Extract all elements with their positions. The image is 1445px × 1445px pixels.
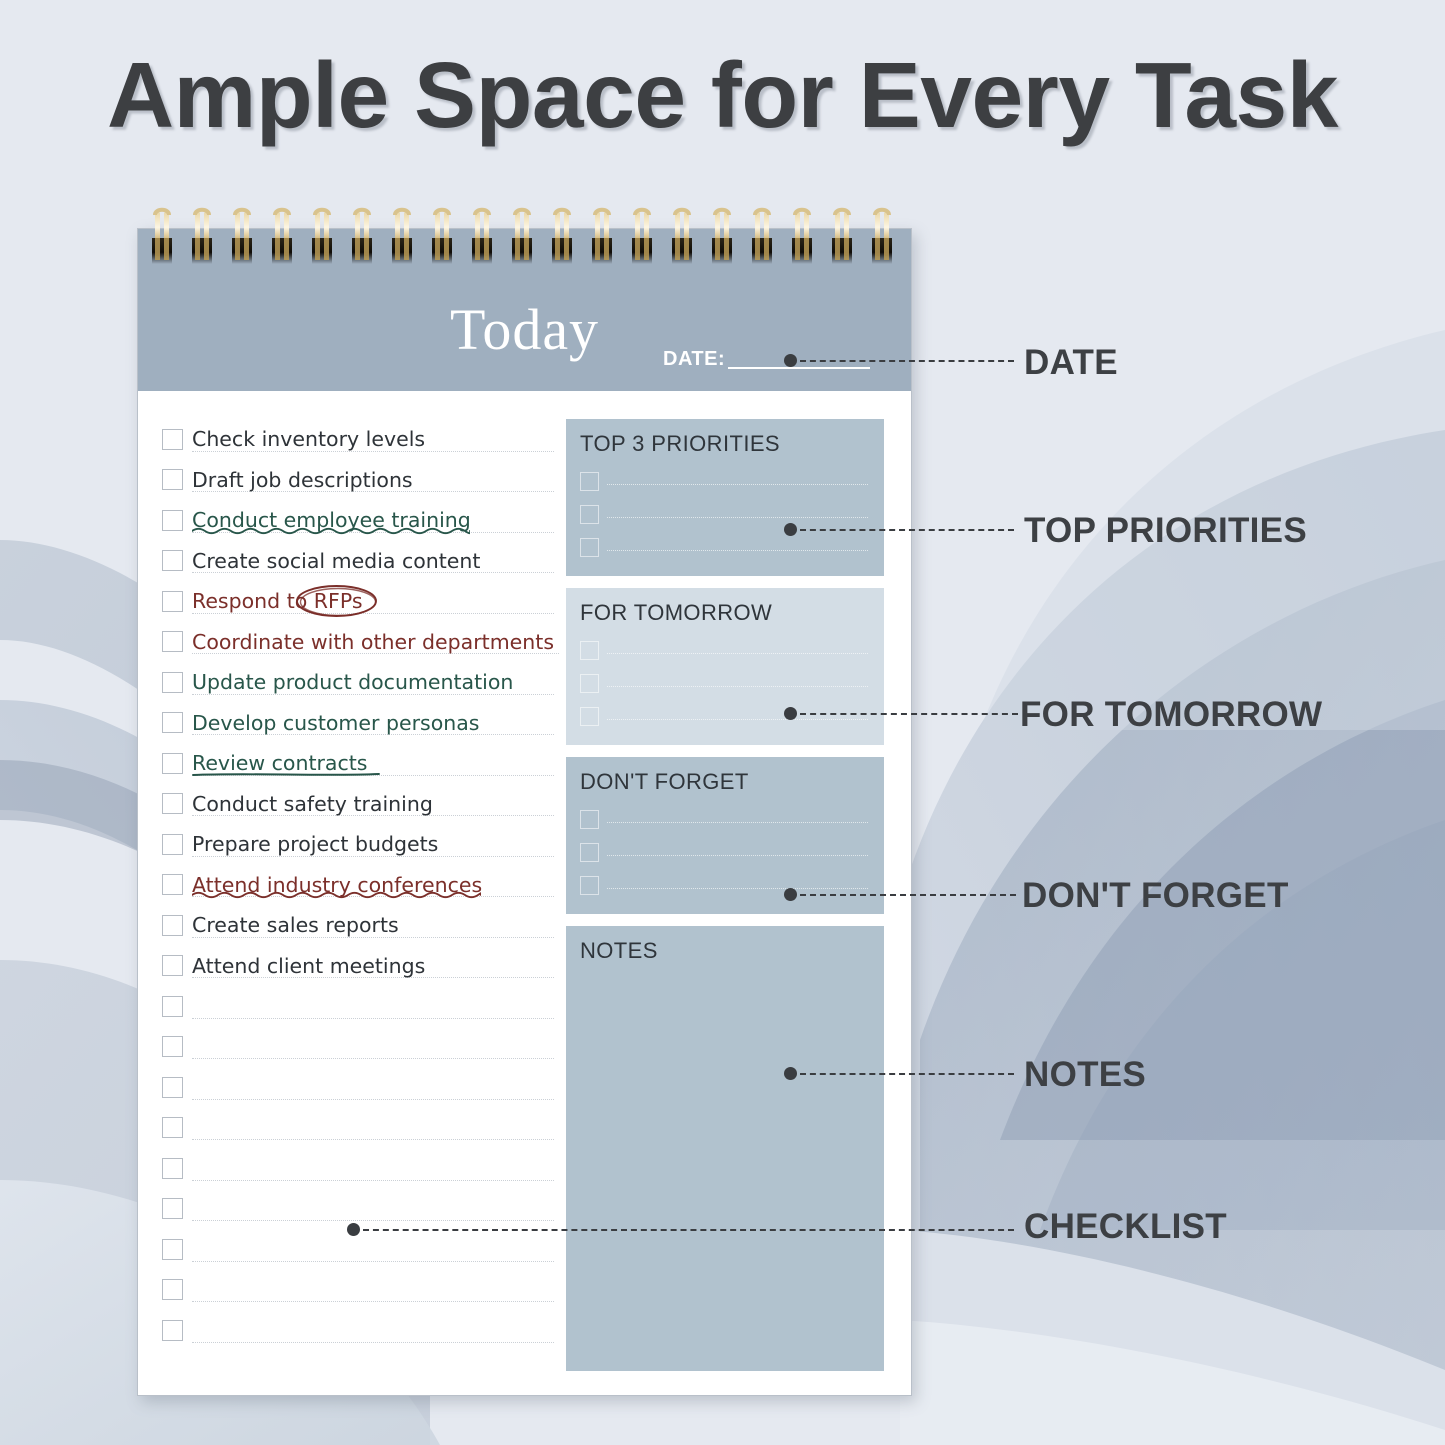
checkbox-icon[interactable] <box>162 1036 183 1057</box>
checklist-item-label: Conduct employee training <box>192 510 476 531</box>
checkbox-icon[interactable] <box>162 510 183 531</box>
checklist-item-label: Respond to RFPs <box>192 591 368 612</box>
checklist-row[interactable] <box>162 1067 554 1108</box>
checklist-row[interactable]: Update product documentation <box>162 662 554 703</box>
checkbox-icon[interactable] <box>162 1320 183 1341</box>
checkbox-icon[interactable] <box>162 955 183 976</box>
dotted-rule <box>192 1099 554 1100</box>
checklist-line: Create sales reports <box>192 905 554 946</box>
section-box-title: NOTES <box>580 940 868 962</box>
checklist-item-label: Update product documentation <box>192 672 518 693</box>
checklist-line <box>192 1229 554 1270</box>
checklist-line <box>192 1027 554 1068</box>
checklist-row[interactable]: Create sales reports <box>162 905 554 946</box>
checklist-line <box>192 1067 554 1108</box>
checklist-column: Check inventory levelsDraft job descript… <box>162 413 554 1371</box>
checklist-line: Attend industry conferences <box>192 865 554 906</box>
checklist-line: Conduct employee training <box>192 500 554 541</box>
infographic-canvas: Ample Space for Every Task <box>0 0 1445 1445</box>
checklist-line: Draft job descriptions <box>192 460 554 501</box>
section-boxes-column: TOP 3 PRIORITIESFOR TOMORROWDON'T FORGET… <box>566 413 884 1371</box>
date-field[interactable]: DATE: <box>663 349 870 371</box>
section-box-row[interactable] <box>580 836 868 869</box>
checkbox-icon[interactable] <box>580 707 599 726</box>
checkbox-icon[interactable] <box>580 876 599 895</box>
section-box-row[interactable] <box>580 531 868 564</box>
section-box-row[interactable] <box>580 634 868 667</box>
dotted-rule <box>607 855 868 856</box>
checklist-row[interactable]: Conduct safety training <box>162 784 554 825</box>
dotted-rule <box>607 888 868 889</box>
checklist-line: Review contracts <box>192 743 554 784</box>
checklist-item-label: Coordinate with other departments <box>192 632 559 653</box>
section-box-row[interactable] <box>580 498 868 531</box>
checklist-row[interactable]: Develop customer personas <box>162 703 554 744</box>
checkbox-icon[interactable] <box>162 996 183 1017</box>
checkbox-icon[interactable] <box>162 672 183 693</box>
checklist-row[interactable] <box>162 1108 554 1149</box>
checkbox-icon[interactable] <box>162 834 183 855</box>
dotted-rule <box>607 686 868 687</box>
checkbox-icon[interactable] <box>162 1198 183 1219</box>
checkbox-icon[interactable] <box>580 843 599 862</box>
checklist-line <box>192 1108 554 1149</box>
section-box[interactable]: TOP 3 PRIORITIES <box>566 419 884 576</box>
checklist-row[interactable] <box>162 1027 554 1068</box>
checklist-row[interactable]: Create social media content <box>162 541 554 582</box>
checkbox-icon[interactable] <box>162 793 183 814</box>
checklist-row[interactable]: Coordinate with other departments <box>162 622 554 663</box>
checklist-row[interactable]: Respond to RFPs <box>162 581 554 622</box>
checkbox-icon[interactable] <box>580 505 599 524</box>
checklist-row[interactable]: Prepare project budgets <box>162 824 554 865</box>
checklist-row[interactable] <box>162 1310 554 1351</box>
notepad-body: Check inventory levelsDraft job descript… <box>138 391 911 1395</box>
dotted-rule <box>192 1180 554 1181</box>
dotted-rule <box>192 1220 554 1221</box>
checklist-line: Create social media content <box>192 541 554 582</box>
dotted-rule <box>607 653 868 654</box>
dotted-rule <box>192 1058 554 1059</box>
checklist-line <box>192 1148 554 1189</box>
checkbox-icon[interactable] <box>580 674 599 693</box>
checklist-item-label: Draft job descriptions <box>192 470 418 491</box>
checklist-line: Coordinate with other departments <box>192 622 559 663</box>
dotted-rule <box>607 517 868 518</box>
section-box-title: DON'T FORGET <box>580 771 868 793</box>
checklist-line <box>192 1310 554 1351</box>
checklist-line: Attend client meetings <box>192 946 554 987</box>
section-box[interactable]: FOR TOMORROW <box>566 588 884 745</box>
checkbox-icon[interactable] <box>162 874 183 895</box>
checklist-item-label: Prepare project budgets <box>192 834 443 855</box>
checklist-line: Check inventory levels <box>192 419 554 460</box>
section-box[interactable]: NOTES <box>566 926 884 1371</box>
spiral-binding <box>145 206 905 276</box>
checklist-item-label: Review contracts <box>192 753 372 774</box>
checklist-line: Prepare project budgets <box>192 824 554 865</box>
checkbox-icon[interactable] <box>162 631 183 652</box>
checkbox-icon[interactable] <box>162 429 183 450</box>
checklist-item-label: Attend industry conferences <box>192 875 487 896</box>
checkbox-icon[interactable] <box>580 641 599 660</box>
checklist-row[interactable] <box>162 1229 554 1270</box>
checklist-line <box>192 1270 554 1311</box>
date-label: DATE: <box>663 349 725 371</box>
dotted-rule <box>192 1018 554 1019</box>
checkbox-icon[interactable] <box>580 472 599 491</box>
checkbox-icon[interactable] <box>162 753 183 774</box>
notepad: Today DATE: Check inventory levelsDraft … <box>137 228 912 1396</box>
checkbox-icon[interactable] <box>162 1077 183 1098</box>
checklist-line <box>192 1189 554 1230</box>
checklist-line: Develop customer personas <box>192 703 554 744</box>
checkbox-icon[interactable] <box>580 810 599 829</box>
checklist-line <box>192 986 554 1027</box>
section-box[interactable]: DON'T FORGET <box>566 757 884 914</box>
section-box-title: TOP 3 PRIORITIES <box>580 433 868 455</box>
date-input-rule[interactable] <box>728 367 870 369</box>
checkbox-icon[interactable] <box>162 591 183 612</box>
checklist-line: Conduct safety training <box>192 784 554 825</box>
checklist-row[interactable] <box>162 1270 554 1311</box>
checklist-row[interactable]: Attend industry conferences <box>162 865 554 906</box>
checklist-line: Update product documentation <box>192 662 554 703</box>
checklist-item-label: Check inventory levels <box>192 429 430 450</box>
dotted-rule <box>607 550 868 551</box>
checkbox-icon[interactable] <box>162 1239 183 1260</box>
section-box-row[interactable] <box>580 700 868 733</box>
checkbox-icon[interactable] <box>580 538 599 557</box>
dotted-rule <box>192 1139 554 1140</box>
dotted-rule <box>607 822 868 823</box>
checkbox-icon[interactable] <box>162 712 183 733</box>
dotted-rule <box>607 719 868 720</box>
checkbox-icon[interactable] <box>162 1279 183 1300</box>
checkbox-icon[interactable] <box>162 915 183 936</box>
checklist-item-label: Develop customer personas <box>192 713 484 734</box>
checkbox-icon[interactable] <box>162 1158 183 1179</box>
section-box-row[interactable] <box>580 667 868 700</box>
checklist-item-label: Attend client meetings <box>192 956 430 977</box>
section-box-row[interactable] <box>580 803 868 836</box>
checkbox-icon[interactable] <box>162 469 183 490</box>
checkbox-icon[interactable] <box>162 550 183 571</box>
dotted-rule <box>192 1342 554 1343</box>
dotted-rule <box>192 1301 554 1302</box>
checklist-row[interactable] <box>162 1189 554 1230</box>
dotted-rule <box>607 484 868 485</box>
section-box-row[interactable] <box>580 465 868 498</box>
section-box-title: FOR TOMORROW <box>580 602 868 624</box>
checklist-item-label: Create social media content <box>192 551 485 572</box>
checklist-row[interactable]: Review contracts <box>162 743 554 784</box>
checklist-item-label: Conduct safety training <box>192 794 438 815</box>
page-title: Ample Space for Every Task <box>0 42 1445 149</box>
checklist-line: Respond to RFPs <box>192 581 554 622</box>
checkbox-icon[interactable] <box>162 1117 183 1138</box>
checklist-row[interactable]: Check inventory levels <box>162 419 554 460</box>
checklist-row[interactable] <box>162 1148 554 1189</box>
checklist-item-label: Create sales reports <box>192 915 404 936</box>
dotted-rule <box>192 1261 554 1262</box>
checklist-row[interactable]: Attend client meetings <box>162 946 554 987</box>
checklist-row[interactable] <box>162 986 554 1027</box>
checklist-row[interactable]: Draft job descriptions <box>162 460 554 501</box>
section-box-row[interactable] <box>580 869 868 902</box>
checklist-row[interactable]: Conduct employee training <box>162 500 554 541</box>
